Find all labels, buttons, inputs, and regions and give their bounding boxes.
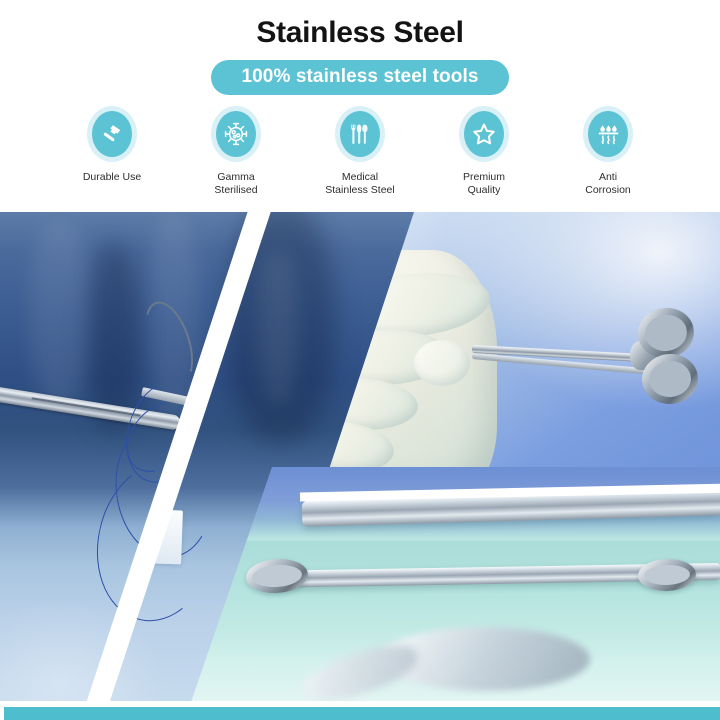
feature-label: Gamma Sterilised	[214, 171, 257, 196]
feature-item-durable-use: Durable Use	[50, 106, 174, 184]
icon-halo	[583, 106, 633, 162]
cutlery-icon	[348, 122, 372, 146]
icon-disc	[464, 111, 504, 157]
icon-disc	[92, 111, 132, 157]
status-badge: 100% stainless steel tools	[211, 60, 508, 95]
feature-label: Anti Corrosion	[585, 171, 631, 196]
collage-bottom-edge	[0, 701, 720, 705]
feature-item-gamma-sterilised: Gamma Sterilised	[174, 106, 298, 196]
header-section: Stainless Steel 100% stainless steel too…	[0, 0, 720, 212]
badge-container: 100% stainless steel tools	[0, 60, 720, 95]
footer-bar	[4, 707, 720, 720]
icon-disc	[216, 111, 256, 157]
icon-halo	[211, 106, 261, 162]
feature-list: Durable Use	[50, 106, 670, 206]
feature-label: Durable Use	[83, 171, 141, 184]
instrument-tray-photo	[190, 467, 720, 705]
feature-label: Premium Quality	[463, 171, 505, 196]
virus-icon	[223, 121, 249, 147]
icon-disc	[588, 111, 628, 157]
icon-disc	[340, 111, 380, 157]
image-collage	[0, 212, 720, 705]
feature-item-medical-stainless-steel: Medical Stainless Steel	[298, 106, 422, 196]
hammer-icon	[100, 122, 124, 146]
icon-halo	[87, 106, 137, 162]
icon-halo	[335, 106, 385, 162]
feature-item-premium-quality: Premium Quality	[422, 106, 546, 196]
glove-thumb	[414, 340, 470, 386]
water-droplets-icon	[596, 122, 621, 147]
star-icon	[472, 122, 496, 146]
icon-halo	[459, 106, 509, 162]
page-title: Stainless Steel	[0, 16, 720, 50]
feature-label: Medical Stainless Steel	[325, 171, 394, 196]
product-banner: Stainless Steel 100% stainless steel too…	[0, 0, 720, 720]
feature-item-anti-corrosion: Anti Corrosion	[546, 106, 670, 196]
